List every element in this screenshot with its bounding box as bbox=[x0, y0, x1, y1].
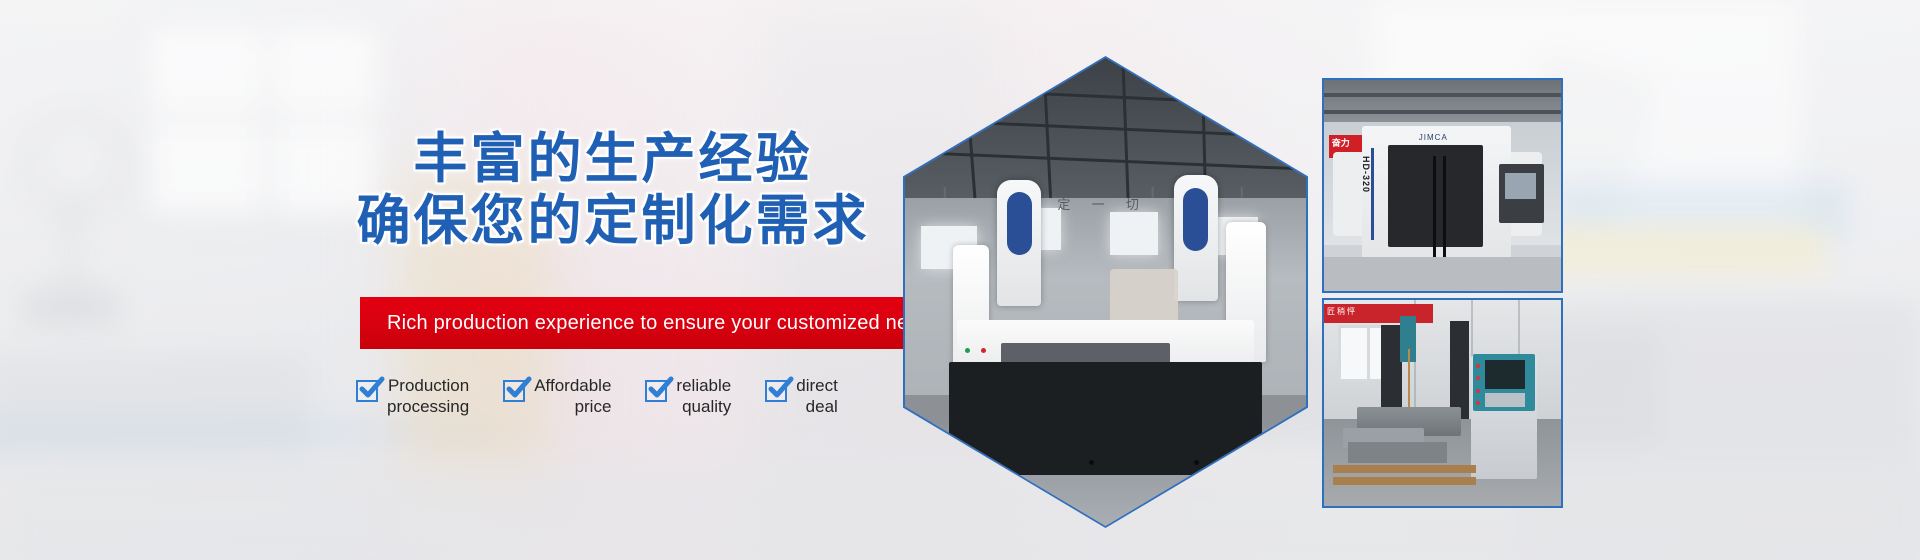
feature-item-affordable-price[interactable]: Affordable price bbox=[503, 372, 611, 417]
panel-button bbox=[1476, 389, 1480, 393]
panel-button bbox=[1476, 364, 1480, 368]
cnc-double-head-milling-machine-photo: 定 一 切 bbox=[905, 58, 1306, 526]
control-keypad bbox=[1485, 393, 1525, 407]
machine-bed bbox=[1348, 442, 1448, 463]
machine-brand-label: JIMCA bbox=[1419, 133, 1448, 142]
feature-label: Production processing bbox=[387, 372, 469, 417]
feature-list: Production processing Affordable price r… bbox=[356, 372, 916, 428]
roof-beam bbox=[1324, 93, 1561, 97]
base-bolt bbox=[1194, 460, 1199, 465]
checkbox-checked-icon bbox=[356, 380, 378, 402]
feature-item-reliable-quality[interactable]: reliable quality bbox=[645, 372, 731, 417]
roof-beam bbox=[1324, 110, 1561, 114]
checkbox-checked-icon bbox=[765, 380, 787, 402]
wooden-pallet bbox=[1333, 477, 1475, 485]
cnc-control-panel bbox=[1499, 164, 1544, 223]
feature-label: Affordable price bbox=[534, 372, 611, 417]
workshop-roof bbox=[1324, 80, 1561, 126]
machine-blue-stripe bbox=[1371, 148, 1374, 241]
base-bolt bbox=[985, 460, 990, 465]
hd-320-machining-center-photo[interactable]: 奋力 HD-320 JIMCA bbox=[1322, 78, 1563, 293]
machine-base bbox=[949, 362, 1262, 474]
feature-item-production-processing[interactable]: Production processing bbox=[356, 372, 469, 417]
machine-model-label: HD-320 bbox=[1361, 156, 1371, 193]
hexagon-photo-frame[interactable]: 定 一 切 bbox=[903, 56, 1308, 528]
banner-subtitle-text: Rich production experience to ensure you… bbox=[360, 312, 941, 335]
checkbox-checked-icon bbox=[645, 380, 667, 402]
panel-button bbox=[1476, 401, 1480, 405]
banner-subtitle-strip: Rich production experience to ensure you… bbox=[360, 297, 907, 349]
checkbox-checked-icon bbox=[503, 380, 525, 402]
control-screen bbox=[1485, 360, 1525, 389]
feature-label: direct deal bbox=[796, 372, 838, 417]
banner-headline: 丰富的生产经验 确保您的定制化需求 bbox=[318, 128, 908, 252]
feature-label: reliable quality bbox=[676, 372, 731, 417]
factory-window bbox=[1110, 212, 1158, 254]
wall-banner: 匠 稍 怦 bbox=[1324, 304, 1433, 323]
workshop-floor bbox=[1324, 257, 1561, 291]
wrapped-parts bbox=[1110, 269, 1178, 325]
panel-button bbox=[1476, 376, 1480, 380]
edm-wire-cut-machine-photo[interactable]: 匠 稍 怦 bbox=[1322, 298, 1563, 508]
feature-item-direct-deal[interactable]: direct deal bbox=[765, 372, 838, 417]
headline-line-1: 丰富的生产经验 bbox=[414, 129, 813, 189]
wooden-pallet bbox=[1333, 465, 1475, 473]
machine-spindle-head-right bbox=[1174, 175, 1218, 301]
wall-banner-text: 匠 稍 怦 bbox=[1324, 304, 1433, 320]
factory-wall-sign: 定 一 切 bbox=[1057, 194, 1148, 213]
machine-spindle-head-left bbox=[997, 180, 1041, 306]
headline-line-2: 确保您的定制化需求 bbox=[318, 190, 908, 252]
